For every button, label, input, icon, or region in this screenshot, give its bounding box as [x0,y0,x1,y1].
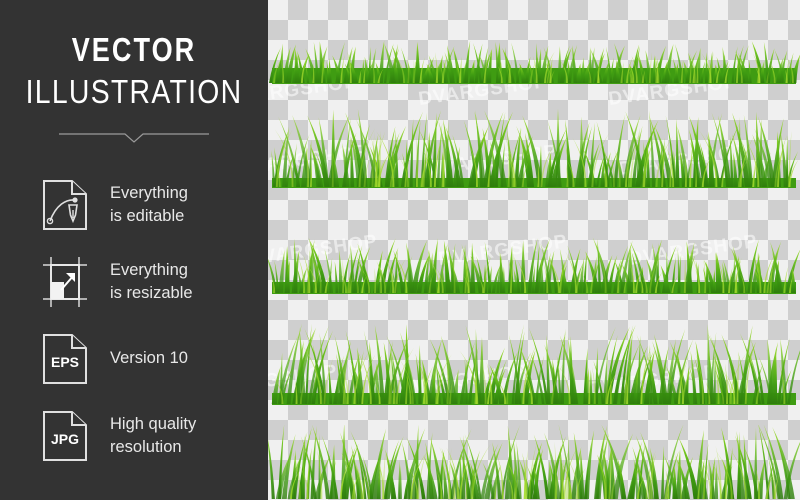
transparency-artboard: DVARGSHOPDVARGSHOPDVARGSHOPDVARGSHOPDVAR… [268,0,800,500]
page-title: VECTOR [24,30,244,70]
info-panel: VECTOR ILLUSTRATION [0,0,268,500]
feature-item-editable: Everything is editable [0,166,268,243]
feature-item-resizable: Everything is resizable [0,243,268,320]
file-type-label: EPS [51,354,79,370]
panel-title-block: VECTOR ILLUSTRATION [0,30,268,114]
grass-strip-4 [268,315,800,405]
divider-chevron-notch-icon [59,131,209,145]
document-pen-curve-icon [42,179,88,231]
grass-strip-5 [268,425,800,500]
grass-strip-1 [268,22,800,84]
grass-strip-2 [268,100,800,188]
resize-arrow-crop-marks-icon [42,256,88,308]
file-type-label: JPG [51,431,79,447]
feature-label: Everything is editable [110,182,188,228]
feature-label: High quality resolution [110,413,196,459]
file-eps-icon: EPS [42,333,88,385]
grass-strip-3 [268,228,800,294]
page-subtitle: ILLUSTRATION [19,70,249,114]
vector-illustration-preview: VECTOR ILLUSTRATION [0,0,800,500]
feature-label: Everything is resizable [110,259,193,305]
feature-label: Version 10 [110,347,188,370]
feature-list: Everything is editable [0,166,268,474]
file-jpg-icon: JPG [42,410,88,462]
feature-item-jpg: JPG High quality resolution [0,397,268,474]
feature-item-eps: EPS Version 10 [0,320,268,397]
